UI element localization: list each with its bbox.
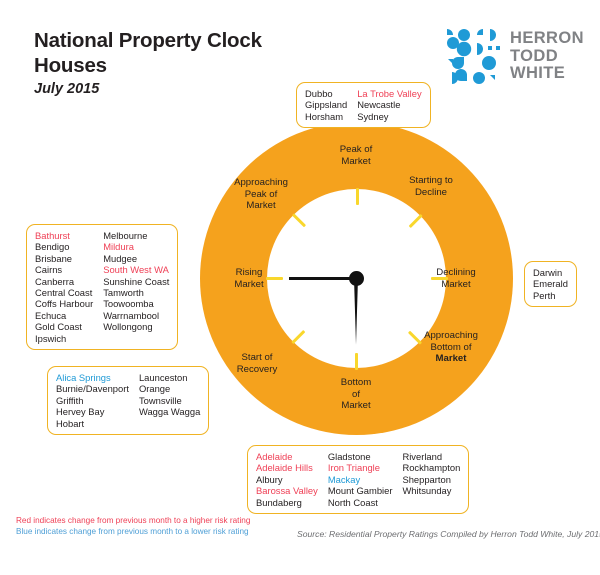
city-item: Albury bbox=[256, 474, 318, 485]
city-columns: Dubbo Gippsland Horsham La Trobe Valley … bbox=[305, 88, 422, 122]
callout-peak-of-market: Dubbo Gippsland Horsham La Trobe Valley … bbox=[296, 82, 431, 128]
callout-start-of-recovery: Alica Springs Burnie/Davenport Griffith … bbox=[47, 366, 209, 435]
clock-label-peak-of-market: Peak of Market bbox=[308, 144, 404, 167]
page-title: National Property Clock Houses July 2015 bbox=[34, 28, 334, 100]
logo-wordmark: HERRON TODD WHITE bbox=[510, 30, 584, 83]
callout-bottom-of-market: Adelaide Adelaide Hills Albury Barossa V… bbox=[247, 445, 469, 514]
clock-center-hub bbox=[349, 271, 364, 286]
city-item: Sunshine Coast bbox=[103, 276, 169, 287]
clock-label-rising-market: Rising Market bbox=[201, 267, 297, 290]
legend-red-line: Red indicates change from previous month… bbox=[16, 516, 316, 527]
city-item: Mount Gambier bbox=[328, 485, 393, 496]
city-column: Alica Springs Burnie/Davenport Griffith … bbox=[56, 372, 129, 429]
callout-rising-market: Bathurst Bendigo Brisbane Cairns Canberr… bbox=[26, 224, 178, 350]
city-column: Darwin Emerald Perth bbox=[533, 267, 568, 301]
city-column: Riverland Rockhampton Shepparton Whitsun… bbox=[402, 451, 460, 508]
city-item: Toowoomba bbox=[103, 298, 169, 309]
logo-word-white: WHITE bbox=[510, 65, 584, 83]
clock-label-start-of-recovery: Start of Recovery bbox=[209, 352, 305, 375]
city-column: Bathurst Bendigo Brisbane Cairns Canberr… bbox=[35, 230, 93, 344]
city-column: Launceston Orange Townsville Wagga Wagga bbox=[139, 372, 200, 429]
city-item: Gold Coast bbox=[35, 321, 93, 332]
city-item: Horsham bbox=[305, 111, 347, 122]
city-item: Rockhampton bbox=[402, 462, 460, 473]
clock-label-approaching-peak-of-market: Approaching Peak of Market bbox=[213, 177, 309, 212]
city-item: Wollongong bbox=[103, 321, 169, 332]
title-line-2: Houses bbox=[34, 53, 334, 78]
city-column: Adelaide Adelaide Hills Albury Barossa V… bbox=[256, 451, 318, 508]
city-item: Alica Springs bbox=[56, 372, 129, 383]
city-item: La Trobe Valley bbox=[357, 88, 421, 99]
property-clock-diagram: Peak of Market Starting to Decline Decli… bbox=[200, 122, 513, 435]
title-date: July 2015 bbox=[34, 78, 334, 100]
clock-label-declining-market: Declining Market bbox=[408, 267, 504, 290]
city-item: Wagga Wagga bbox=[139, 406, 200, 417]
logo-dots-icon bbox=[446, 27, 504, 85]
city-item: Mackay bbox=[328, 474, 393, 485]
city-item: Brisbane bbox=[35, 253, 93, 264]
legend-blue-line: Blue indicates change from previous mont… bbox=[16, 527, 316, 538]
city-item: Orange bbox=[139, 383, 200, 394]
city-item: Hobart bbox=[56, 418, 129, 429]
city-item: Melbourne bbox=[103, 230, 169, 241]
city-item: Bendigo bbox=[35, 241, 93, 252]
city-item: Hervey Bay bbox=[56, 406, 129, 417]
city-item: Adelaide bbox=[256, 451, 318, 462]
city-item: Tamworth bbox=[103, 287, 169, 298]
city-item: Barossa Valley bbox=[256, 485, 318, 496]
clock-hour-hand bbox=[289, 277, 357, 280]
city-item: Cairns bbox=[35, 264, 93, 275]
clock-minute-hand bbox=[354, 278, 358, 345]
city-item: Bathurst bbox=[35, 230, 93, 241]
city-item: Dubbo bbox=[305, 88, 347, 99]
city-item: Central Coast bbox=[35, 287, 93, 298]
city-item: Iron Triangle bbox=[328, 462, 393, 473]
city-item: Whitsunday bbox=[402, 485, 460, 496]
callout-declining-market: Darwin Emerald Perth bbox=[524, 261, 577, 307]
city-item: Shepparton bbox=[402, 474, 460, 485]
city-item: Griffith bbox=[56, 395, 129, 406]
city-item: Burnie/Davenport bbox=[56, 383, 129, 394]
city-item: Ipswich bbox=[35, 333, 93, 344]
city-columns: Darwin Emerald Perth bbox=[533, 267, 568, 301]
city-item: Emerald bbox=[533, 278, 568, 289]
city-item: Newcastle bbox=[357, 99, 421, 110]
city-column: Dubbo Gippsland Horsham bbox=[305, 88, 347, 122]
source-note: Source: Residential Property Ratings Com… bbox=[297, 529, 600, 539]
city-item: Canberra bbox=[35, 276, 93, 287]
city-item: Coffs Harbour bbox=[35, 298, 93, 309]
city-column: Gladstone Iron Triangle Mackay Mount Gam… bbox=[328, 451, 393, 508]
logo-word-herron: HERRON bbox=[510, 30, 584, 48]
city-item: Adelaide Hills bbox=[256, 462, 318, 473]
logo-word-todd: TODD bbox=[510, 48, 584, 66]
city-item: Bundaberg bbox=[256, 497, 318, 508]
city-item: Gippsland bbox=[305, 99, 347, 110]
city-item: Launceston bbox=[139, 372, 200, 383]
city-item: Perth bbox=[533, 290, 568, 301]
city-item: Echuca bbox=[35, 310, 93, 321]
city-item: Gladstone bbox=[328, 451, 393, 462]
city-columns: Adelaide Adelaide Hills Albury Barossa V… bbox=[256, 451, 460, 508]
city-item: Riverland bbox=[402, 451, 460, 462]
herron-todd-white-logo: HERRON TODD WHITE bbox=[446, 27, 590, 87]
city-item: Townsville bbox=[139, 395, 200, 406]
city-item: Sydney bbox=[357, 111, 421, 122]
legend: Red indicates change from previous month… bbox=[16, 516, 316, 537]
city-columns: Bathurst Bendigo Brisbane Cairns Canberr… bbox=[35, 230, 169, 344]
city-column: Melbourne Mildura Mudgee South West WA S… bbox=[103, 230, 169, 344]
city-column: La Trobe Valley Newcastle Sydney bbox=[357, 88, 421, 122]
city-item: Darwin bbox=[533, 267, 568, 278]
city-item: South West WA bbox=[103, 264, 169, 275]
city-item: Mildura bbox=[103, 241, 169, 252]
city-columns: Alica Springs Burnie/Davenport Griffith … bbox=[56, 372, 200, 429]
clock-label-starting-to-decline: Starting to Decline bbox=[383, 175, 479, 198]
city-item: Mudgee bbox=[103, 253, 169, 264]
clock-label-approaching-bottom-of-market: Approaching Bottom of Market bbox=[403, 330, 499, 365]
clock-label-bottom-of-market: Bottom of Market bbox=[308, 377, 404, 412]
city-item: North Coast bbox=[328, 497, 393, 508]
title-line-1: National Property Clock bbox=[34, 28, 334, 53]
city-item: Warrnambool bbox=[103, 310, 169, 321]
